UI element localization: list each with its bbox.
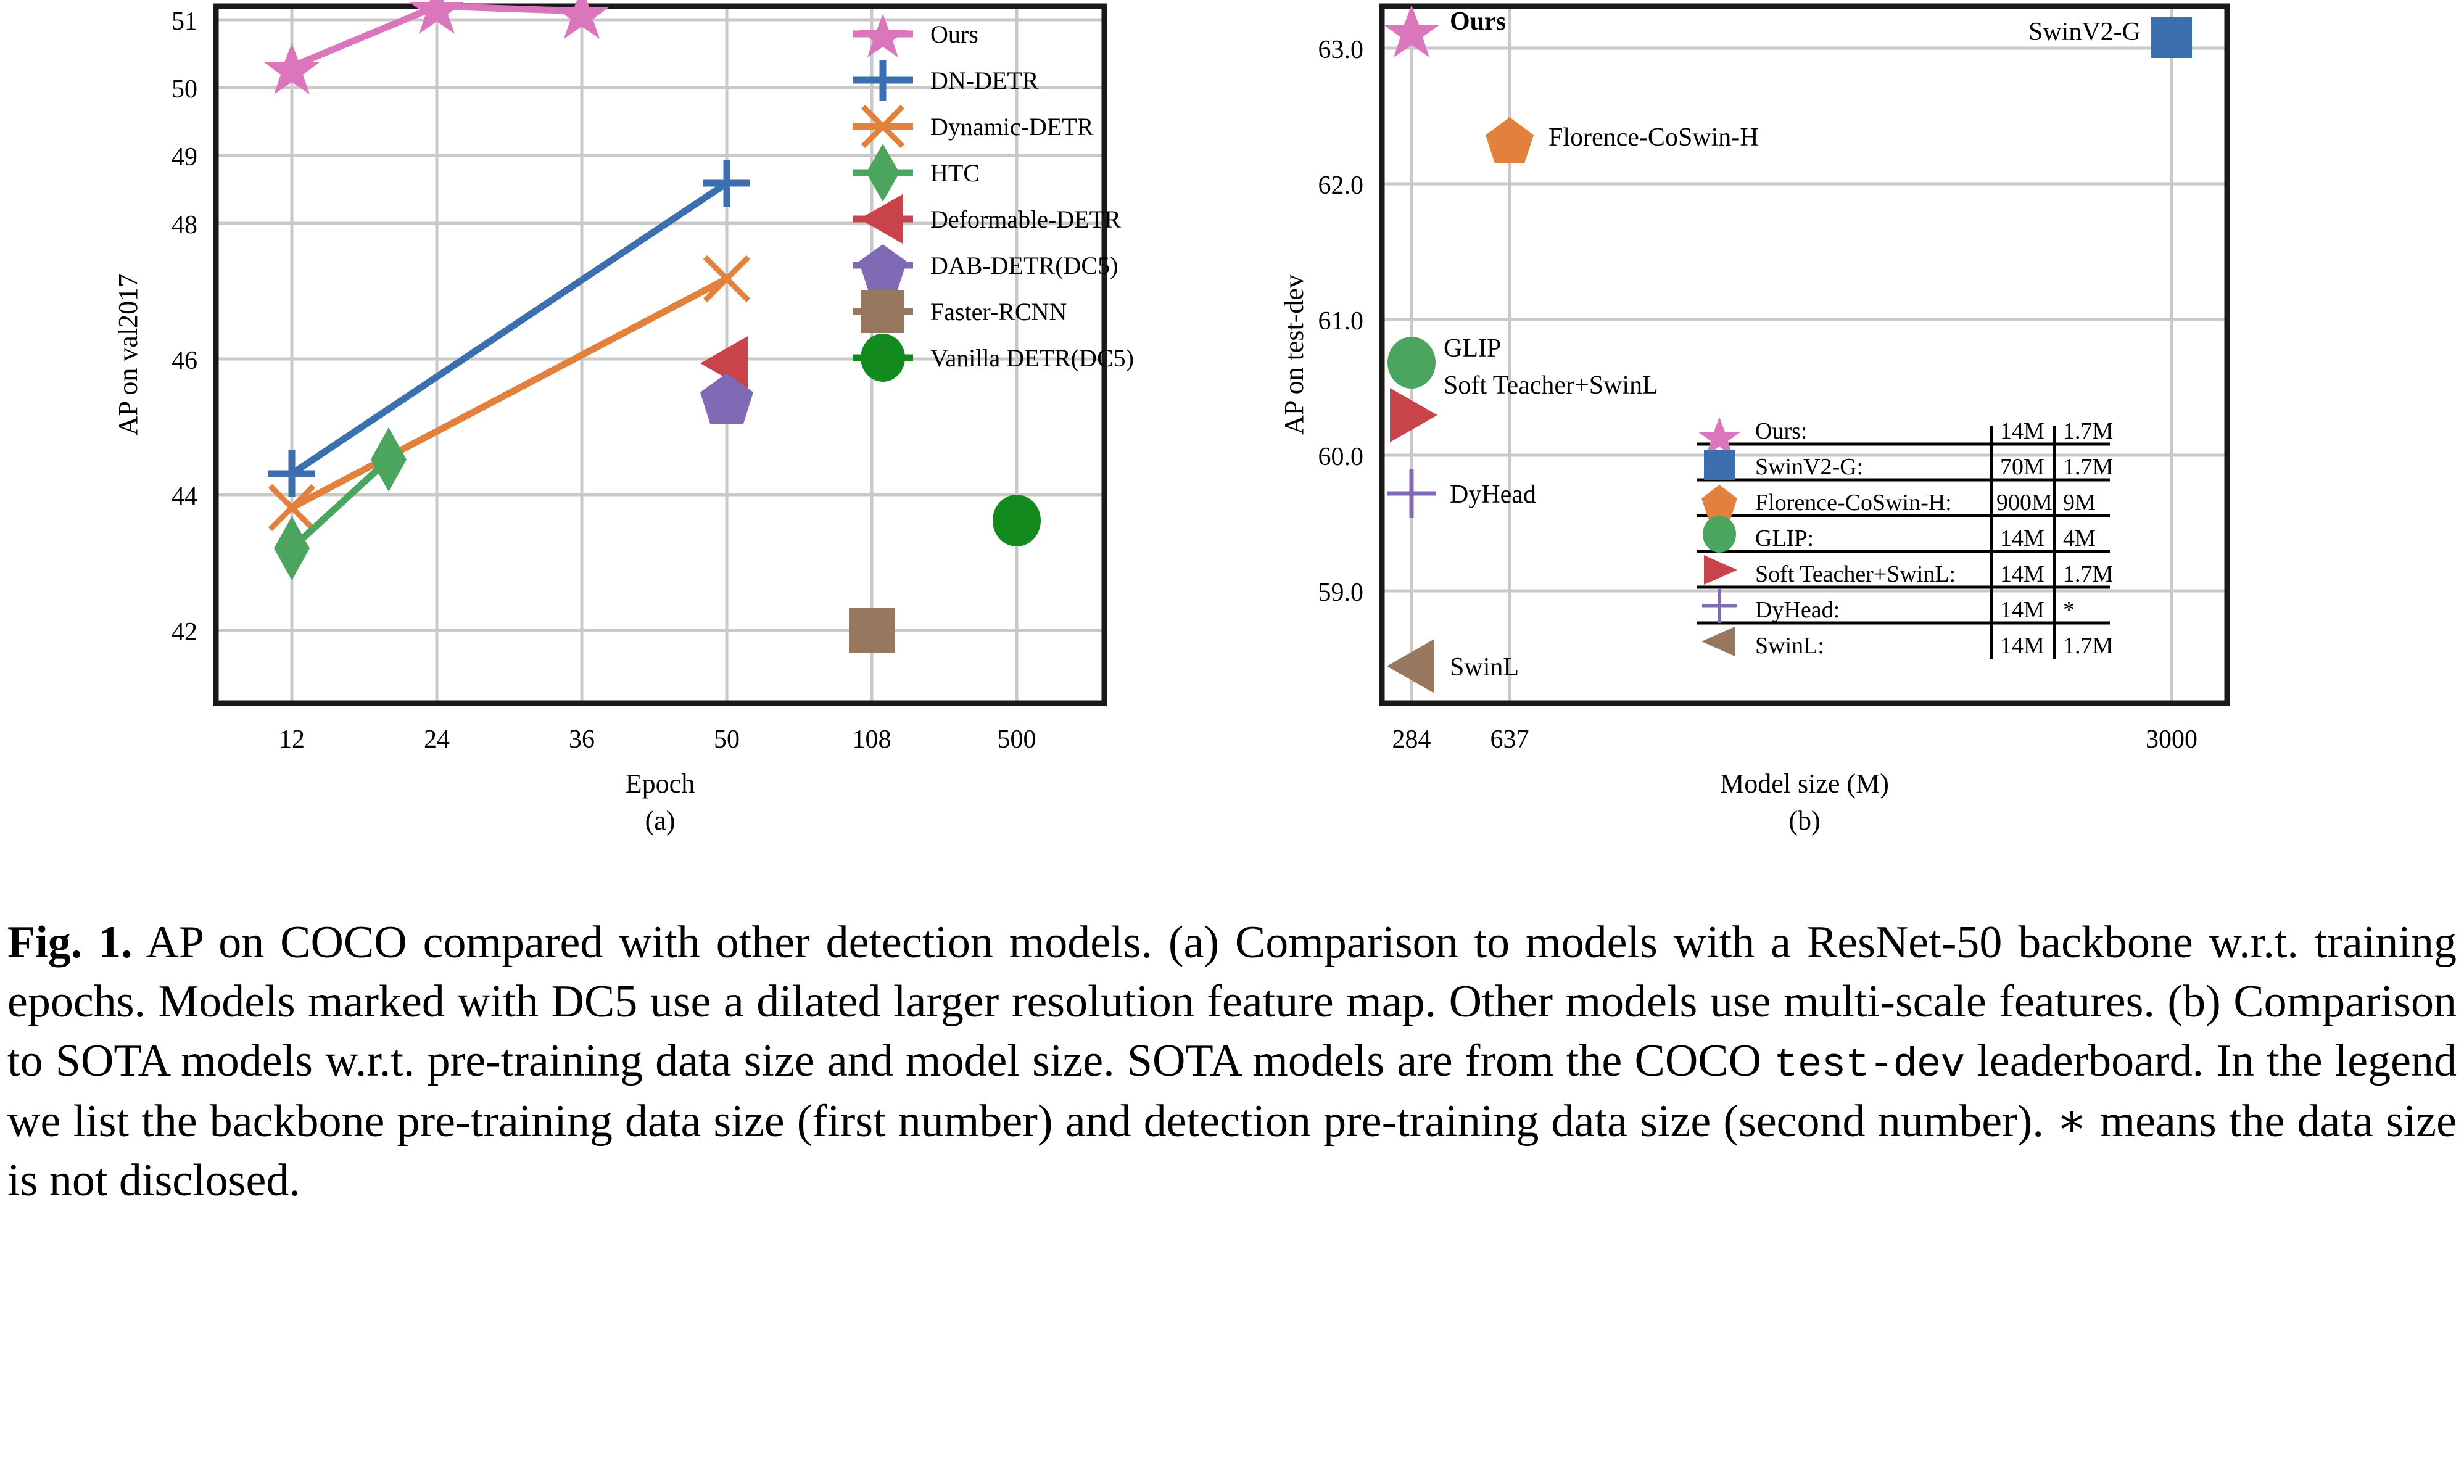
marker-square <box>2151 17 2192 58</box>
legend-row-detection: * <box>2063 597 2075 623</box>
legend-row-name: GLIP: <box>1755 526 1814 551</box>
x-tick: 36 <box>569 725 595 754</box>
legend-row-backbone: 14M <box>2000 418 2044 444</box>
legend-label: DN-DETR <box>930 67 1039 94</box>
legend-row-name: SwinL: <box>1755 633 1824 659</box>
legend-row-detection: 9M <box>2063 490 2096 516</box>
x-axis-title-a: Epoch <box>626 769 695 799</box>
legend-row-backbone: 14M <box>2000 561 2044 587</box>
legend-label: HTC <box>930 159 980 187</box>
series-faster-rcnn-a <box>849 608 895 653</box>
figure-caption: Fig. 1. AP on COCO compared with other d… <box>7 913 2457 1211</box>
chart-panel-a: 42 44 46 48 49 50 51 12 24 36 50 108 500… <box>93 0 1265 864</box>
y-tick: 51 <box>172 7 197 36</box>
chart-panel-b: Ours SwinV2-G Florence-CoSwin-H GLIP Sof… <box>1265 0 2437 864</box>
legend-row-backbone: 14M <box>2000 597 2044 623</box>
y-tick: 44 <box>172 482 197 511</box>
point-label-florence: Florence-CoSwin-H <box>1548 123 1759 152</box>
y-axis-title-b: AP on test-dev <box>1279 274 1309 435</box>
y-tick: 61.0 <box>1318 307 1364 336</box>
y-tick: 59.0 <box>1318 579 1364 607</box>
x-tick: 12 <box>279 725 305 754</box>
x-axis-ticks-b: 284 637 3000 <box>1392 725 2198 754</box>
y-axis-title-a: AP on val2017 <box>113 274 143 435</box>
legend-label: Ours <box>930 20 978 48</box>
x-tick: 50 <box>714 725 740 754</box>
x-tick: 108 <box>853 725 891 754</box>
legend-row-backbone: 900M <box>1996 490 2053 516</box>
figure-label: Fig. 1. <box>7 917 133 968</box>
legend-table-row[interactable]: Florence-CoSwin-H: 900M 9M <box>1701 485 2096 519</box>
series-vanilla-detr-a <box>993 495 1041 546</box>
legend-label: Deformable-DETR <box>930 205 1121 233</box>
panel-sublabel-a: (a) <box>645 806 676 836</box>
legend-row-backbone: 70M <box>2000 454 2044 480</box>
marker-circle <box>861 334 905 382</box>
y-axis-ticks-b: 59.0 60.0 61.0 62.0 63.0 <box>1318 36 1364 607</box>
legend-label: Dynamic-DETR <box>930 113 1094 141</box>
y-tick: 63.0 <box>1318 36 1364 64</box>
x-tick: 284 <box>1392 725 1431 754</box>
y-tick: 60.0 <box>1318 443 1364 471</box>
legend-label: DAB-DETR(DC5) <box>930 252 1118 279</box>
x-tick: 637 <box>1490 725 1529 754</box>
y-tick: 48 <box>172 211 197 239</box>
panel-sublabel-b: (b) <box>1788 806 1820 836</box>
point-label-glip: GLIP <box>1444 334 1501 363</box>
y-tick: 49 <box>172 143 197 171</box>
point-label-ours: Ours <box>1450 7 1506 36</box>
legend-label: Vanilla DETR(DC5) <box>930 344 1134 372</box>
y-tick: 46 <box>172 347 197 375</box>
point-label-swinv2g: SwinV2-G <box>2028 18 2141 46</box>
legend-row-backbone: 14M <box>2000 526 2044 551</box>
legend-row-name: SwinV2-G: <box>1755 454 1863 480</box>
legend-row-name: DyHead: <box>1755 597 1840 623</box>
point-label-swinl: SwinL <box>1450 653 1519 682</box>
y-tick: 62.0 <box>1318 171 1364 200</box>
marker-square <box>1704 450 1735 480</box>
x-tick: 500 <box>998 725 1036 754</box>
point-label-dyhead: DyHead <box>1450 480 1536 509</box>
legend-row-detection: 1.7M <box>2063 633 2113 659</box>
legend-row-detection: 1.7M <box>2063 418 2113 444</box>
legend-row-detection: 4M <box>2063 526 2096 551</box>
x-tick: 3000 <box>2146 725 2197 754</box>
legend-row-detection: 1.7M <box>2063 454 2113 480</box>
legend-row-backbone: 14M <box>2000 633 2044 659</box>
marker-square <box>861 290 904 333</box>
legend-row-name: Soft Teacher+SwinL: <box>1755 561 1956 587</box>
legend-row-detection: 1.7M <box>2063 561 2113 587</box>
y-axis-ticks-a: 42 44 46 48 49 50 51 <box>172 7 197 646</box>
legend-row-name: Florence-CoSwin-H: <box>1755 490 1952 516</box>
x-axis-ticks-a: 12 24 36 50 108 500 <box>279 725 1036 754</box>
marker-circle <box>1387 337 1436 389</box>
y-tick: 42 <box>172 618 197 646</box>
x-axis-title-b: Model size (M) <box>1720 769 1889 799</box>
marker-circle <box>993 495 1041 546</box>
point-label-soft-teacher: Soft Teacher+SwinL <box>1444 371 1658 400</box>
caption-mono-term: test-dev <box>1774 1042 1964 1088</box>
marker-square <box>849 608 895 653</box>
x-tick: 24 <box>424 725 450 754</box>
figure-panels: 42 44 46 48 49 50 51 12 24 36 50 108 500… <box>0 0 2464 864</box>
legend-label: Faster-RCNN <box>930 298 1067 326</box>
y-tick: 50 <box>172 75 197 104</box>
legend-row-name: Ours: <box>1755 418 1807 444</box>
marker-circle <box>1703 516 1736 553</box>
